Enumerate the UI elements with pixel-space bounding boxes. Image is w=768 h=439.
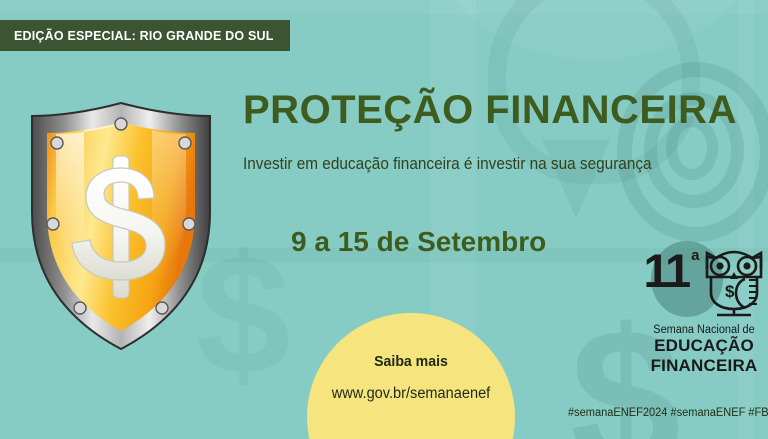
shield-dollar-icon — [26, 100, 216, 352]
edition-badge-label: EDIÇÃO ESPECIAL: RIO GRANDE DO SUL — [14, 29, 274, 43]
enef-logo-line2: EDUCAÇÃO — [645, 336, 763, 356]
hashtags: #semanaENEF2024 #semanaENEF #FBEF — [568, 407, 768, 419]
cta-title: Saiba mais — [313, 353, 509, 370]
enef-logo-line1: Semana Nacional de — [648, 324, 760, 336]
edition-badge: EDIÇÃO ESPECIAL: RIO GRANDE DO SUL — [0, 20, 290, 51]
event-date: 9 a 15 de Setembro — [291, 226, 546, 258]
cta-url[interactable]: www.gov.br/semanaenef — [313, 385, 509, 403]
enef-edition-ordinal: a — [691, 247, 699, 264]
owl-logo-icon: 11 a — [645, 243, 763, 376]
enef-edition-number: 11 — [643, 249, 689, 294]
enef-logo-mark: 11 a — [645, 243, 763, 323]
enef-logo-line3: FINANCEIRA — [645, 356, 763, 376]
owl-mascot-icon: $ — [703, 247, 765, 319]
page-title: PROTEÇÃO FINANCEIRA — [243, 88, 737, 133]
cta-text-group: Saiba mais www.gov.br/semanaenef — [307, 313, 515, 403]
owl-dollar-symbol: $ — [725, 282, 735, 301]
background-owl-beak — [542, 140, 610, 218]
page-subtitle: Investir em educação financeira é invest… — [243, 155, 652, 174]
enef-promotional-banner: $ $ EDIÇÃO ESPECIAL: RIO GRANDE DO SUL — [0, 0, 768, 439]
